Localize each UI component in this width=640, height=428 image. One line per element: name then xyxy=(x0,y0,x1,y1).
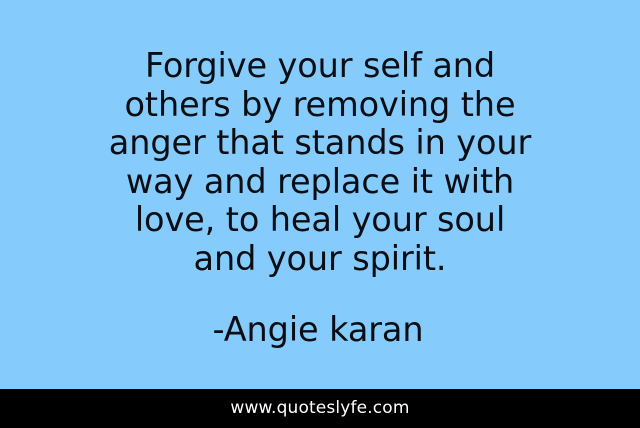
footer-bar: www.quoteslyfe.com xyxy=(0,389,640,428)
quote-attribution: -Angie karan xyxy=(62,311,574,350)
quote-image-card: Forgive your self and others by removing… xyxy=(0,0,640,428)
footer-website-url[interactable]: www.quoteslyfe.com xyxy=(230,400,409,417)
quote-text: Forgive your self and others by removing… xyxy=(62,47,578,279)
quote-content-area: Forgive your self and others by removing… xyxy=(0,0,640,389)
